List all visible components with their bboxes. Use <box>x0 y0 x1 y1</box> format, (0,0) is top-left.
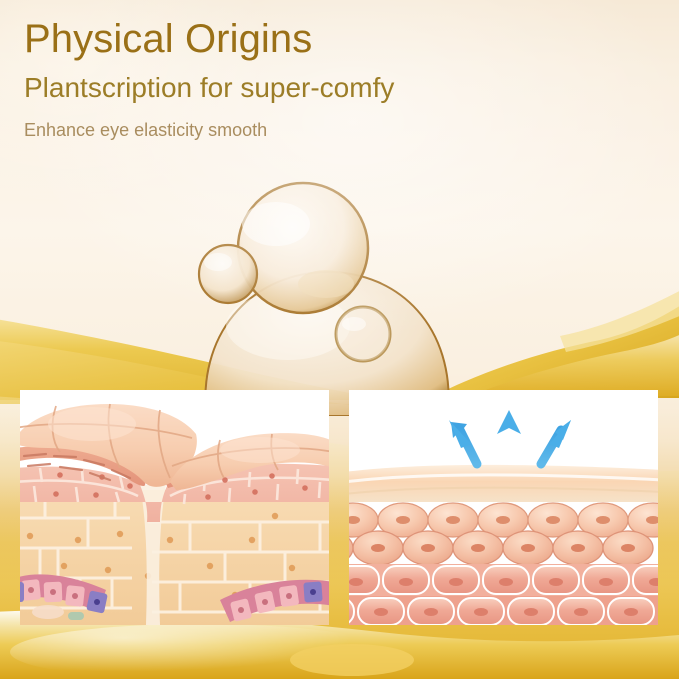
flat-cell-row-1 <box>349 566 658 594</box>
page-tagline: Enhance eye elasticity smooth <box>24 120 624 142</box>
panel-skin-cross-section <box>20 390 329 625</box>
subcutaneous-lobule <box>32 605 64 619</box>
page-title: Physical Origins <box>24 18 624 61</box>
page-subtitle: Plantscription for super-comfy <box>24 73 624 104</box>
capillary-segment <box>68 612 84 620</box>
panel-skin-cell-lifting <box>349 390 658 625</box>
illustration-panels <box>20 390 658 625</box>
epidermis-highlight-right <box>220 437 300 463</box>
surface-film-layer <box>349 465 658 502</box>
skin-cell-lifting-diagram <box>349 390 658 625</box>
epidermis-highlight-left <box>48 407 136 441</box>
round-cell-row-1 <box>349 503 658 537</box>
headline-block: Physical Origins Plantscription for supe… <box>24 18 624 142</box>
skin-cross-section-diagram <box>20 390 329 625</box>
product-banner: Physical Origins Plantscription for supe… <box>0 0 679 679</box>
